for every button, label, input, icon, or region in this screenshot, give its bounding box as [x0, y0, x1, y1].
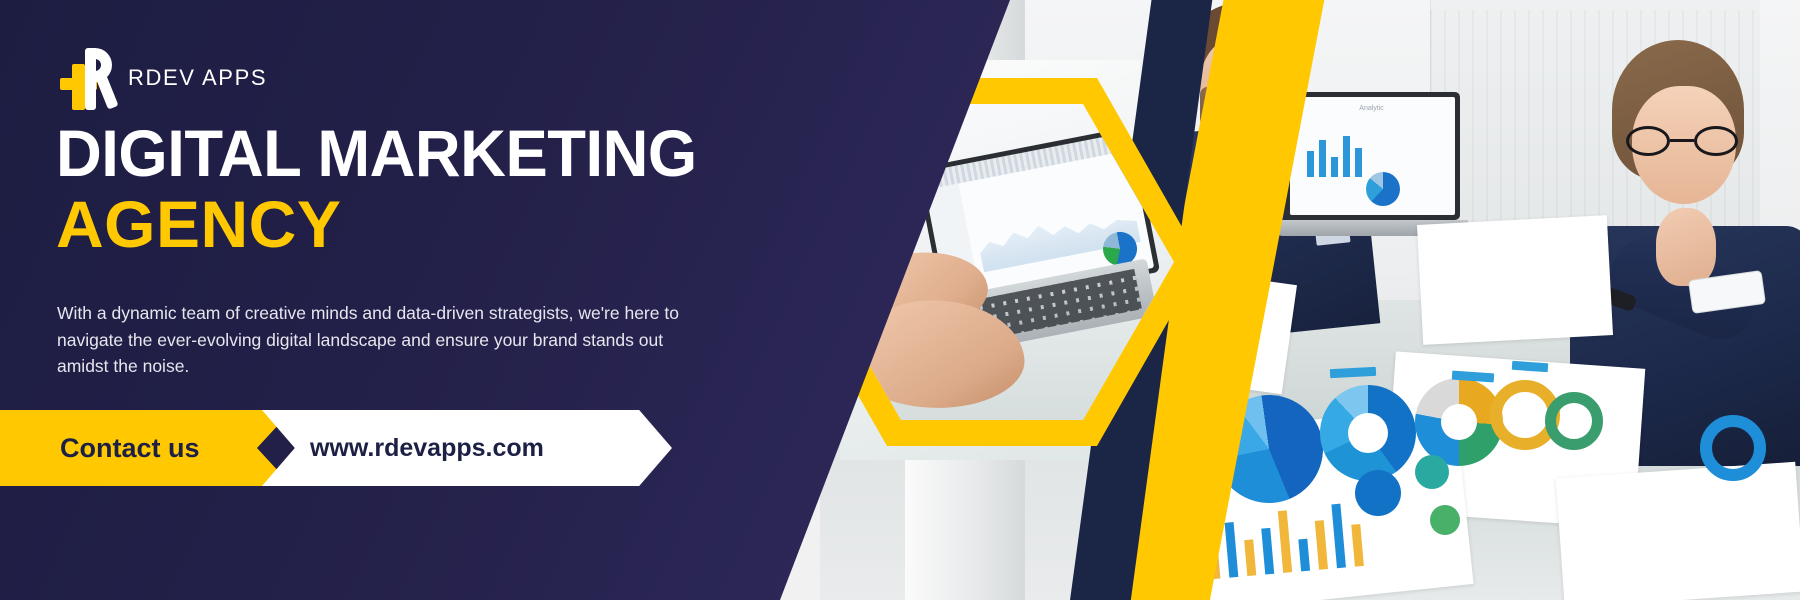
headline: DIGITAL MARKETING AGENCY: [56, 122, 776, 259]
eyeglasses-icon: [1626, 126, 1738, 156]
headline-line-1: DIGITAL MARKETING: [56, 122, 747, 185]
description-text: With a dynamic team of creative minds an…: [57, 300, 682, 380]
letter-r-leg: [96, 75, 119, 110]
brand-name: RDEV APPS: [128, 65, 267, 91]
report-paper: [1556, 462, 1800, 600]
marketing-banner: Analytic: [0, 0, 1800, 600]
contact-us-block[interactable]: Contact us: [0, 410, 292, 486]
analytics-screen: Analytic: [1290, 97, 1455, 215]
ring-chart-graphic: [1700, 415, 1766, 481]
headline-line-2: AGENCY: [56, 191, 776, 258]
brand-logo[interactable]: RDEV APPS: [58, 46, 267, 110]
website-url: www.rdevapps.com: [310, 434, 544, 463]
donut-chart-graphic: [1320, 385, 1416, 481]
website-block[interactable]: www.rdevapps.com: [262, 410, 672, 486]
bar-chart-graphic: [1307, 135, 1386, 177]
report-paper: [1417, 215, 1613, 345]
pie-chart-graphic: [1366, 172, 1400, 206]
r-plus-monogram-icon: [58, 46, 112, 110]
hand-graphic: [1656, 208, 1716, 286]
contact-bar: Contact us www.rdevapps.com: [0, 410, 672, 486]
analytics-screen-title: Analytic: [1359, 105, 1384, 112]
node-graphic: [1415, 455, 1449, 489]
contact-us-label: Contact us: [60, 433, 200, 464]
analytics-laptop: Analytic: [1285, 92, 1460, 220]
ring-chart-graphic: [1545, 392, 1603, 450]
